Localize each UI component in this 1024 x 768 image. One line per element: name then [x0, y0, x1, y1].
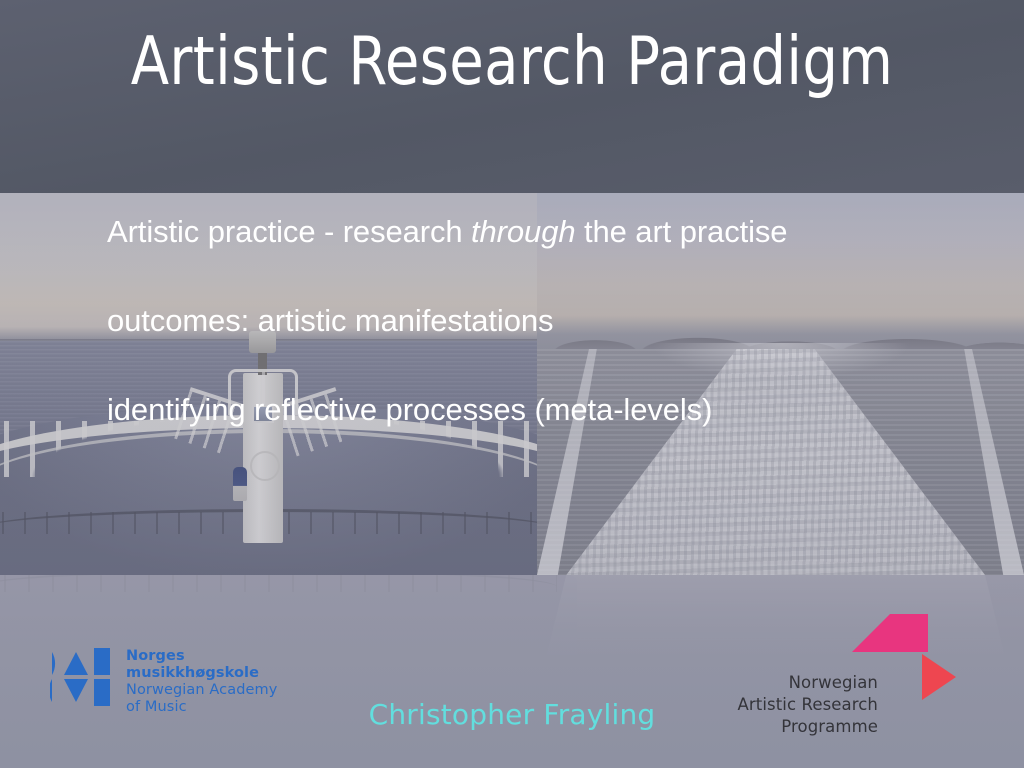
nmh-text-line-3: Norwegian Academy [126, 682, 277, 699]
body-line-1-part-a: Artistic practice - research [107, 214, 471, 249]
nmh-logo-text: Norges musikkhøgskole Norwegian Academy … [126, 646, 277, 716]
slide-body-text: Artistic practice - research through the… [107, 216, 987, 425]
body-line-1-part-b: the art practise [575, 214, 787, 249]
nmh-text-line-1: Norges [126, 648, 277, 665]
narp-text-line-2: Artistic Research [700, 694, 878, 716]
body-line-3: identifying reflective processes (meta-l… [107, 394, 987, 425]
person-on-deck [233, 467, 247, 501]
triangle-up-icon [852, 614, 928, 652]
narp-text-line-1: Norwegian [700, 672, 878, 694]
mast-ring [250, 451, 280, 481]
body-line-1: Artistic practice - research through the… [107, 216, 987, 247]
page-title: Artistic Research Paradigm [36, 24, 988, 99]
narp-logo-text: Norwegian Artistic Research Programme [700, 672, 878, 738]
norwegian-academy-of-music-logo: Norges musikkhøgskole Norwegian Academy … [50, 646, 277, 716]
nmh-text-line-2: musikkhøgskole [126, 665, 277, 682]
narp-text-line-3: Programme [700, 716, 878, 738]
triangle-right-icon [922, 654, 956, 700]
body-line-2: outcomes: artistic manifestations [107, 305, 987, 336]
presentation-slide: Artistic Research Paradigm Artistic prac… [0, 0, 1024, 768]
nmh-text-line-4: of Music [126, 699, 277, 716]
nmh-diamond-mark [50, 646, 112, 708]
body-line-1-emphasis: through [471, 214, 575, 249]
norwegian-artistic-research-programme-logo: Norwegian Artistic Research Programme [700, 612, 960, 757]
